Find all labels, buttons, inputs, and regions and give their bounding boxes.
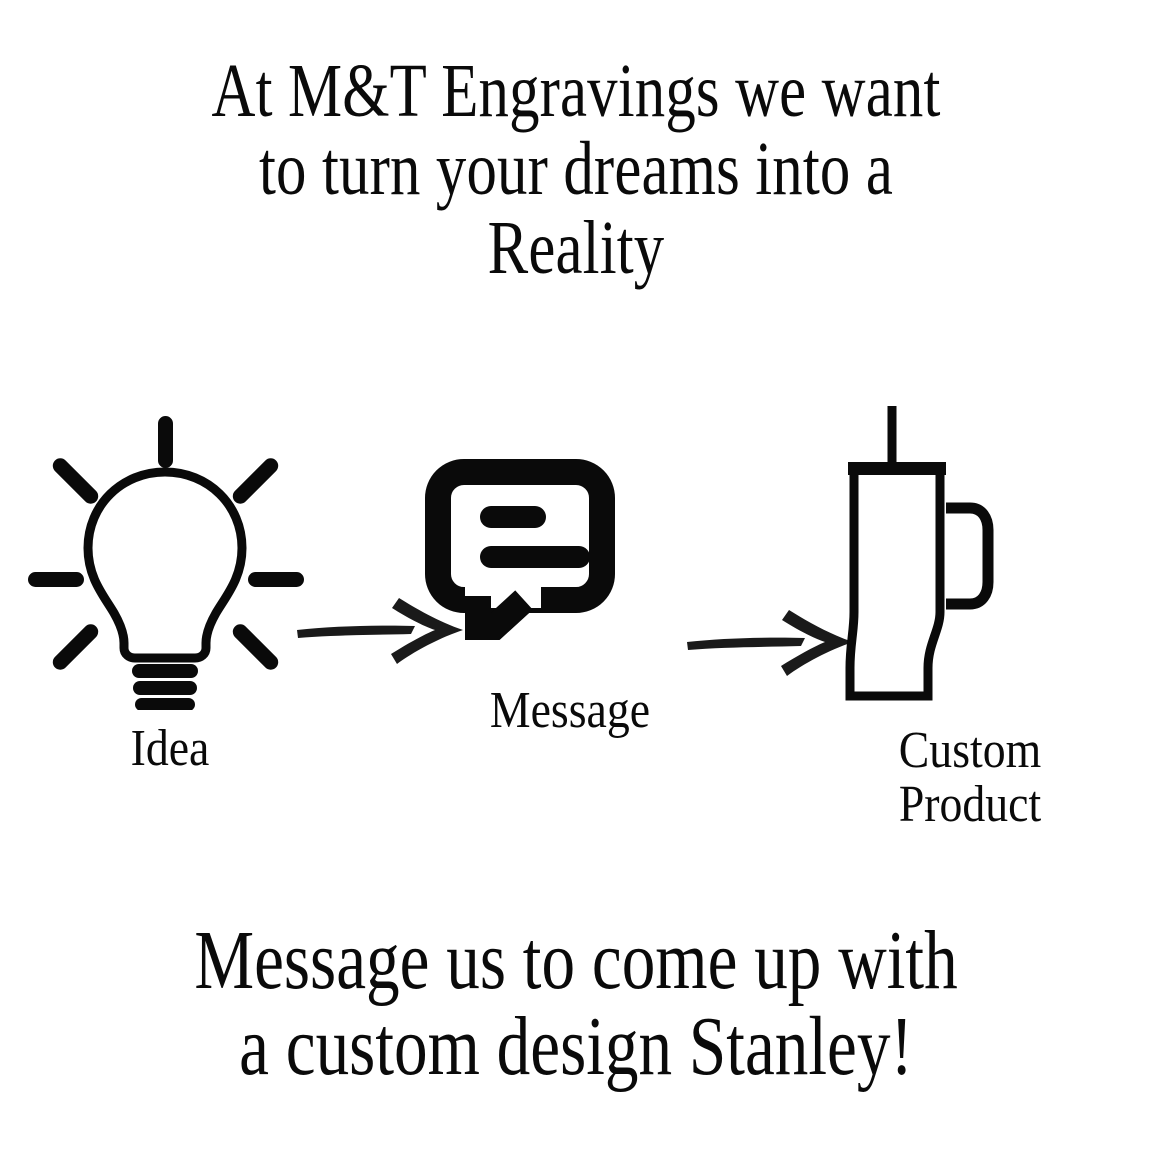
process-flow: Idea bbox=[0, 400, 1152, 870]
lightbulb-icon bbox=[20, 400, 320, 710]
tumbler-icon bbox=[820, 400, 1120, 710]
flow-step-message: Message bbox=[420, 400, 720, 738]
page-title: At M&T Engravings we want to turn your d… bbox=[115, 52, 1037, 287]
flow-step-label: Idea bbox=[38, 722, 302, 776]
flow-step-label: Message bbox=[438, 684, 702, 738]
call-to-action-text: Message us to come up with a custom desi… bbox=[115, 918, 1037, 1089]
flow-step-product: Custom Product bbox=[820, 400, 1120, 832]
promo-graphic: At M&T Engravings we want to turn your d… bbox=[0, 0, 1152, 1152]
speech-bubble-icon bbox=[420, 400, 720, 640]
flow-step-label: Custom Product bbox=[838, 724, 1102, 832]
flow-step-idea: Idea bbox=[20, 400, 320, 776]
